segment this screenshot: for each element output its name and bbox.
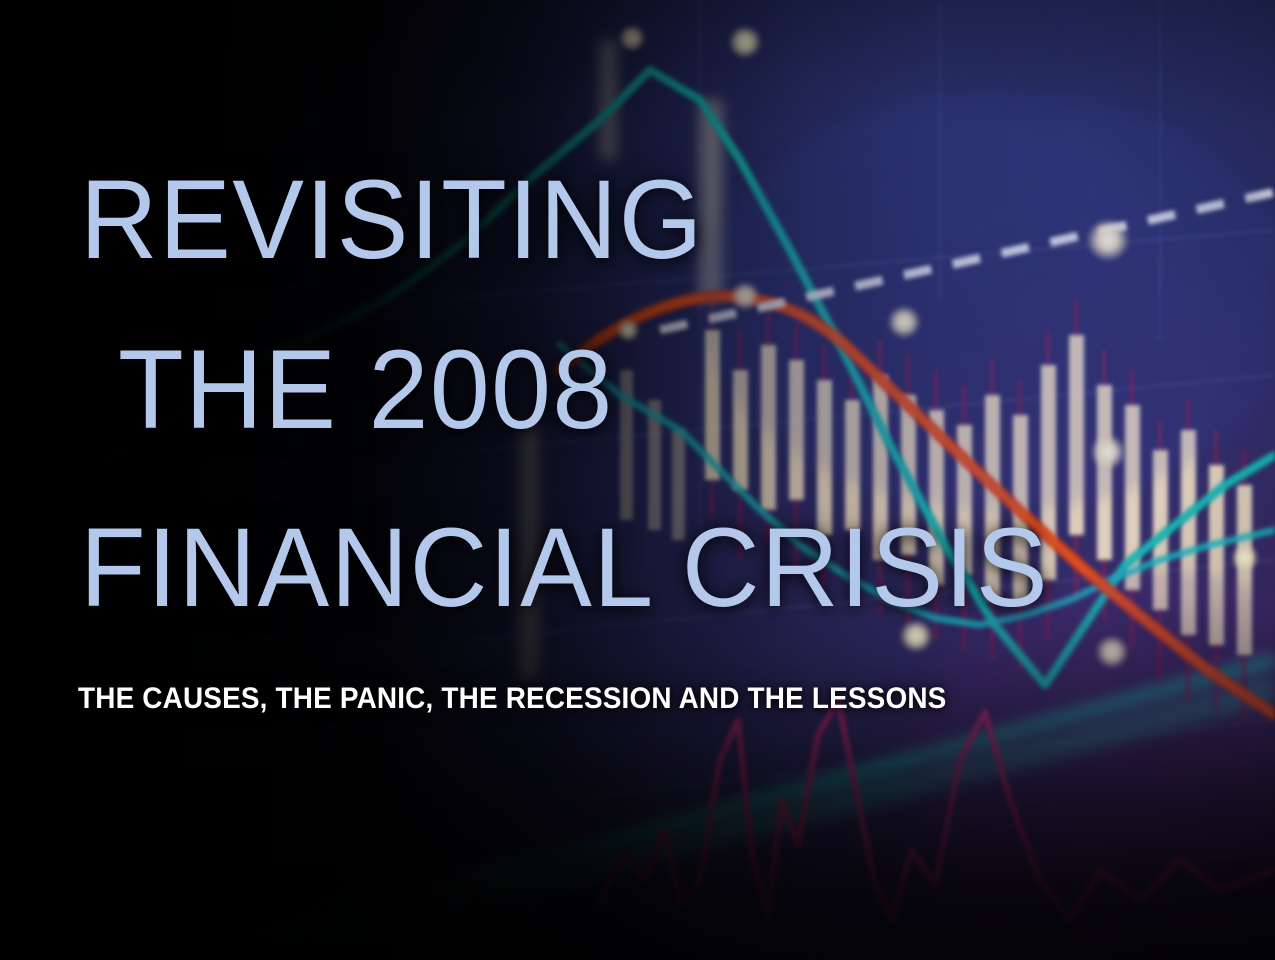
poster-canvas: REVISITING THE 2008 FINANCIAL CRISIS THE… <box>0 0 1275 960</box>
screen-bloom <box>0 0 1275 960</box>
background-trading-chart-photo <box>0 0 1275 960</box>
